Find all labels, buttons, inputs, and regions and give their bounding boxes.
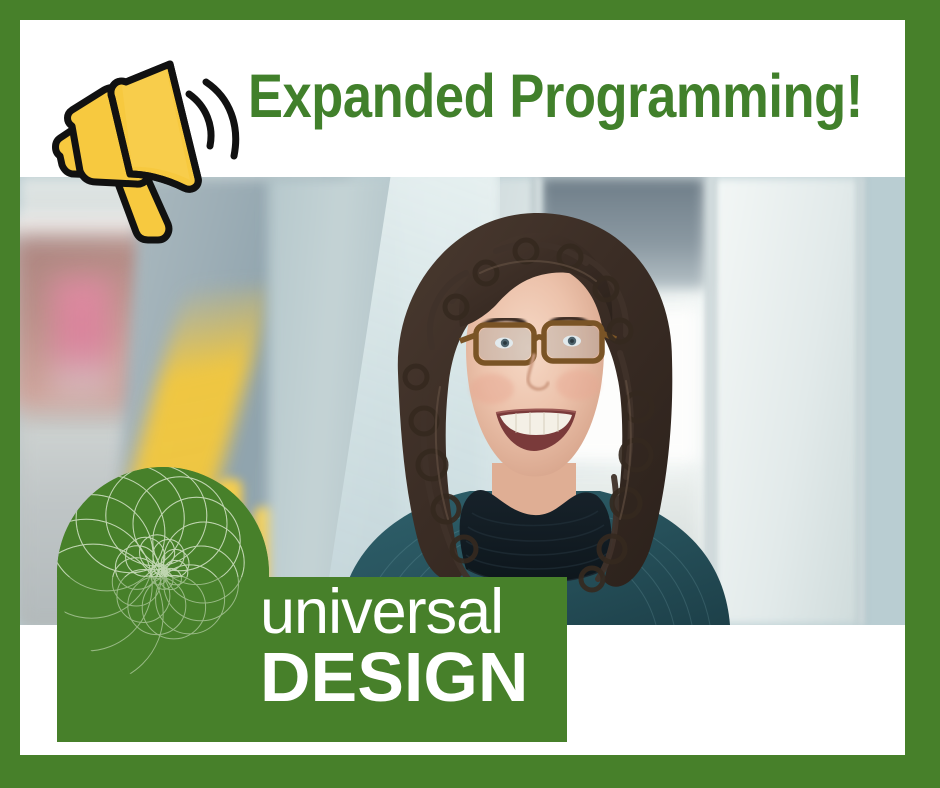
megaphone-icon xyxy=(38,52,248,242)
poster-frame: Expanded Programming! xyxy=(0,0,940,788)
logo-wordmark: universal DESIGN xyxy=(260,584,570,710)
universal-design-logo: universal DESIGN xyxy=(57,467,567,742)
logo-line-universal: universal xyxy=(260,584,570,642)
page-title: Expanded Programming! xyxy=(248,66,798,127)
logo-line-design: DESIGN xyxy=(260,644,570,711)
poster-canvas: Expanded Programming! xyxy=(20,20,905,755)
